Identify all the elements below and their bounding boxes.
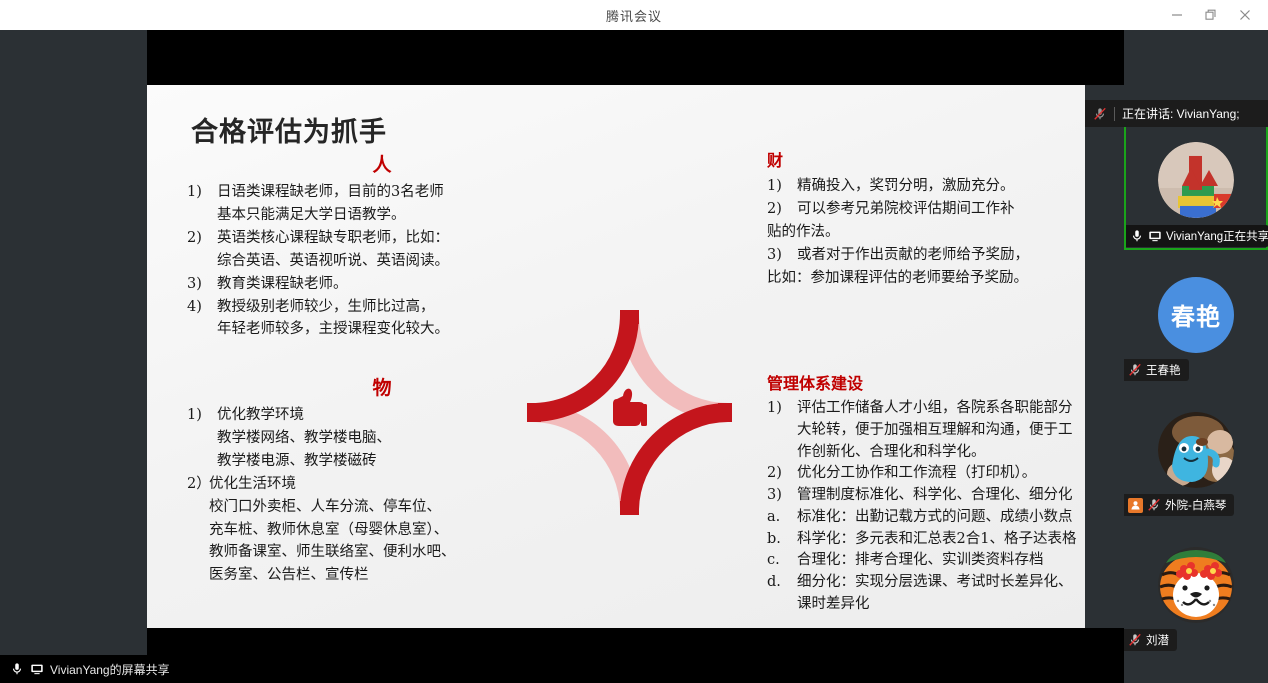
shared-screen-viewport[interactable]: 合格评估为抓手 人 1) 日语类课程缺老师，目前的3名老师 基本只能满足大学日语… — [0, 30, 1124, 655]
list-item: 1) 日语类课程缺老师，目前的3名老师 基本只能满足大学日语教学。 — [187, 181, 577, 227]
list-text: 管理制度标准化、科学化、合理化、细分化 — [797, 485, 1085, 507]
list-text: 贴的作法。 — [767, 221, 1085, 244]
page-title: 合格评估为抓手 — [191, 110, 387, 149]
list-text: 或者对于作出贡献的老师给予奖励， — [797, 244, 1085, 267]
presentation-slide: 合格评估为抓手 人 1) 日语类课程缺老师，目前的3名老师 基本只能满足大学日语… — [147, 85, 1085, 628]
list-text: 教育类课程缺老师。 — [217, 273, 577, 296]
list-item: 2) 英语类核心课程缺专职老师，比如： 综合英语、英语视听说、英语阅读。 — [187, 227, 577, 273]
list-text: 评估工作储备人才小组，各院系各职能部分 大轮转，便于加强相互理解和沟通，便于工 … — [797, 398, 1085, 463]
list-line: 医务室、公告栏、宣传栏 — [209, 564, 577, 587]
screen-share-icon — [1148, 229, 1162, 243]
list-item: 1) 评估工作储备人才小组，各院系各职能部分 大轮转，便于加强相互理解和沟通，便… — [767, 398, 1085, 463]
divider — [1114, 107, 1115, 121]
section-heading: 管理体系建设 — [767, 370, 1085, 394]
list-item: a. 标准化：出勤记载方式的问题、成绩小数点 — [767, 507, 1085, 529]
list-text: 优化分工协作和工作流程（打印机）。 — [797, 463, 1085, 485]
list-marker: 2) — [187, 227, 217, 273]
screen-share-icon[interactable] — [30, 662, 44, 676]
list-line: 日语类课程缺老师，目前的3名老师 — [217, 181, 577, 204]
avatar: 春艳 — [1158, 276, 1234, 352]
thumbs-up-star-icon — [517, 300, 742, 525]
list-item: 3) 管理制度标准化、科学化、合理化、细分化 — [767, 485, 1085, 507]
list-marker: b. — [767, 529, 797, 551]
participant-tile-baiyanqin[interactable]: 外院-白燕琴 — [1124, 385, 1268, 520]
mic-muted-icon — [1093, 107, 1107, 121]
share-status-bar: VivianYang的屏幕共享 — [0, 655, 1124, 683]
list-marker: 1) — [187, 404, 217, 473]
list-text: 科学化：多元表和汇总表2合1、格子达表格 — [797, 529, 1085, 551]
participant-name: 王春艳 — [1146, 362, 1181, 378]
list-item: 3) 或者对于作出贡献的老师给予奖励， — [767, 244, 1085, 267]
mic-on-icon[interactable] — [10, 662, 24, 676]
window-title: 腾讯会议 — [606, 6, 662, 25]
avatar-initials: 春艳 — [1171, 297, 1221, 332]
participant-label: 刘潜 — [1124, 629, 1177, 651]
list-line: 综合英语、英语视听说、英语阅读。 — [217, 250, 577, 273]
list-item: 1) 精确投入，奖罚分明，激励充分。 — [767, 175, 1085, 198]
list-line: 细分化：实现分层选课、考试时长差异化、 — [797, 572, 1085, 594]
mic-muted-icon — [1147, 498, 1161, 512]
host-person-icon — [1128, 498, 1143, 513]
list-item: d. 细分化：实现分层选课、考试时长差异化、 课时差异化 — [767, 572, 1085, 616]
list-marker: 1) — [187, 181, 217, 227]
close-icon[interactable] — [1228, 0, 1262, 30]
list-item: b. 科学化：多元表和汇总表2合1、格子达表格 — [767, 529, 1085, 551]
list-line: 英语类核心课程缺专职老师，比如： — [217, 227, 577, 250]
window-controls — [1160, 0, 1262, 30]
list-item: 比如：参加课程评估的老师要给予奖励。 — [767, 267, 1085, 290]
list-marker: d. — [767, 572, 797, 616]
speaking-now-banner: 正在讲话: VivianYang; — [1085, 100, 1268, 127]
avatar — [1158, 411, 1234, 487]
list-text: 标准化：出勤记载方式的问题、成绩小数点 — [797, 507, 1085, 529]
list-text: 英语类核心课程缺专职老师，比如： 综合英语、英语视听说、英语阅读。 — [217, 227, 577, 273]
list-line: 教育类课程缺老师。 — [217, 273, 577, 296]
list-line: 作创新化、合理化和科学化。 — [797, 442, 1085, 464]
slide-section-management: 管理体系建设 1) 评估工作储备人才小组，各院系各职能部分 大轮转，便于加强相互… — [767, 370, 1085, 616]
list-text: 合理化：排考合理化、实训类资料存档 — [797, 550, 1085, 572]
participant-tile-wangchunyan[interactable]: 春艳 王春艳 — [1124, 250, 1268, 385]
list-line: 课时差异化 — [797, 594, 1085, 616]
section-heading: 人 — [187, 150, 577, 177]
list-marker: a. — [767, 507, 797, 529]
shared-screen-letterbox-bottom — [147, 628, 1124, 655]
speaking-now-text: 正在讲话: VivianYang; — [1122, 105, 1240, 122]
list-text: 日语类课程缺老师，目前的3名老师 基本只能满足大学日语教学。 — [217, 181, 577, 227]
participant-tile-vivianyang[interactable]: VivianYang正在共享 — [1124, 115, 1268, 250]
list-text: 比如：参加课程评估的老师要给予奖励。 — [767, 267, 1085, 290]
list-marker: 1) — [767, 175, 797, 198]
list-marker: c. — [767, 550, 797, 572]
list-marker: 4) — [187, 296, 217, 342]
list-marker: 2） — [187, 473, 209, 588]
shared-screen-letterbox-top — [147, 30, 1124, 85]
list-item: 2) 优化分工协作和工作流程（打印机）。 — [767, 463, 1085, 485]
list-item: c. 合理化：排考合理化、实训类资料存档 — [767, 550, 1085, 572]
participant-sidebar[interactable]: 正在讲话: VivianYang; — [1124, 30, 1268, 683]
list-line: 教师备课室、师生联络室、便利水吧、 — [209, 541, 577, 564]
mic-muted-icon — [1128, 363, 1142, 377]
share-status-text: VivianYang的屏幕共享 — [50, 661, 170, 678]
list-line: 基本只能满足大学日语教学。 — [217, 204, 577, 227]
section-heading: 财 — [767, 147, 1085, 171]
window-titlebar: 腾讯会议 — [0, 0, 1268, 30]
list-item: 2) 可以参考兄弟院校评估期间工作补 — [767, 198, 1085, 221]
mic-muted-icon — [1128, 633, 1142, 647]
section-items: 1) 精确投入，奖罚分明，激励充分。 2) 可以参考兄弟院校评估期间工作补 贴的… — [767, 175, 1085, 290]
participant-label: 外院-白燕琴 — [1124, 494, 1234, 516]
slide-section-money: 财 1) 精确投入，奖罚分明，激励充分。 2) 可以参考兄弟院校评估期间工作补 … — [767, 147, 1085, 290]
participant-label: VivianYang正在共享 — [1126, 225, 1268, 247]
mic-on-icon — [1130, 229, 1144, 243]
participant-name: 外院-白燕琴 — [1165, 497, 1226, 513]
app-body: 合格评估为抓手 人 1) 日语类课程缺老师，目前的3名老师 基本只能满足大学日语… — [0, 30, 1268, 683]
avatar — [1158, 141, 1234, 217]
list-line: 评估工作储备人才小组，各院系各职能部分 — [797, 398, 1085, 420]
avatar — [1158, 546, 1234, 622]
list-text: 可以参考兄弟院校评估期间工作补 — [797, 198, 1085, 221]
participant-name: 刘潜 — [1146, 632, 1169, 648]
list-line: 大轮转，便于加强相互理解和沟通，便于工 — [797, 420, 1085, 442]
section-items: 1) 评估工作储备人才小组，各院系各职能部分 大轮转，便于加强相互理解和沟通，便… — [767, 398, 1085, 616]
participant-tile-liuqian[interactable]: 刘潜 — [1124, 520, 1268, 655]
list-item: 3) 教育类课程缺老师。 — [187, 273, 577, 296]
participant-label: 王春艳 — [1124, 359, 1189, 381]
list-item: 贴的作法。 — [767, 221, 1085, 244]
list-marker: 2) — [767, 198, 797, 221]
list-text: 精确投入，奖罚分明，激励充分。 — [797, 175, 1085, 198]
list-marker: 3) — [767, 244, 797, 267]
list-marker: 2) — [767, 463, 797, 485]
list-marker: 3) — [767, 485, 797, 507]
list-text: 细分化：实现分层选课、考试时长差异化、 课时差异化 — [797, 572, 1085, 616]
list-marker: 1) — [767, 398, 797, 463]
list-marker: 3) — [187, 273, 217, 296]
participant-name: VivianYang正在共享 — [1166, 228, 1268, 244]
minimize-icon[interactable] — [1160, 0, 1194, 30]
restore-icon[interactable] — [1194, 0, 1228, 30]
